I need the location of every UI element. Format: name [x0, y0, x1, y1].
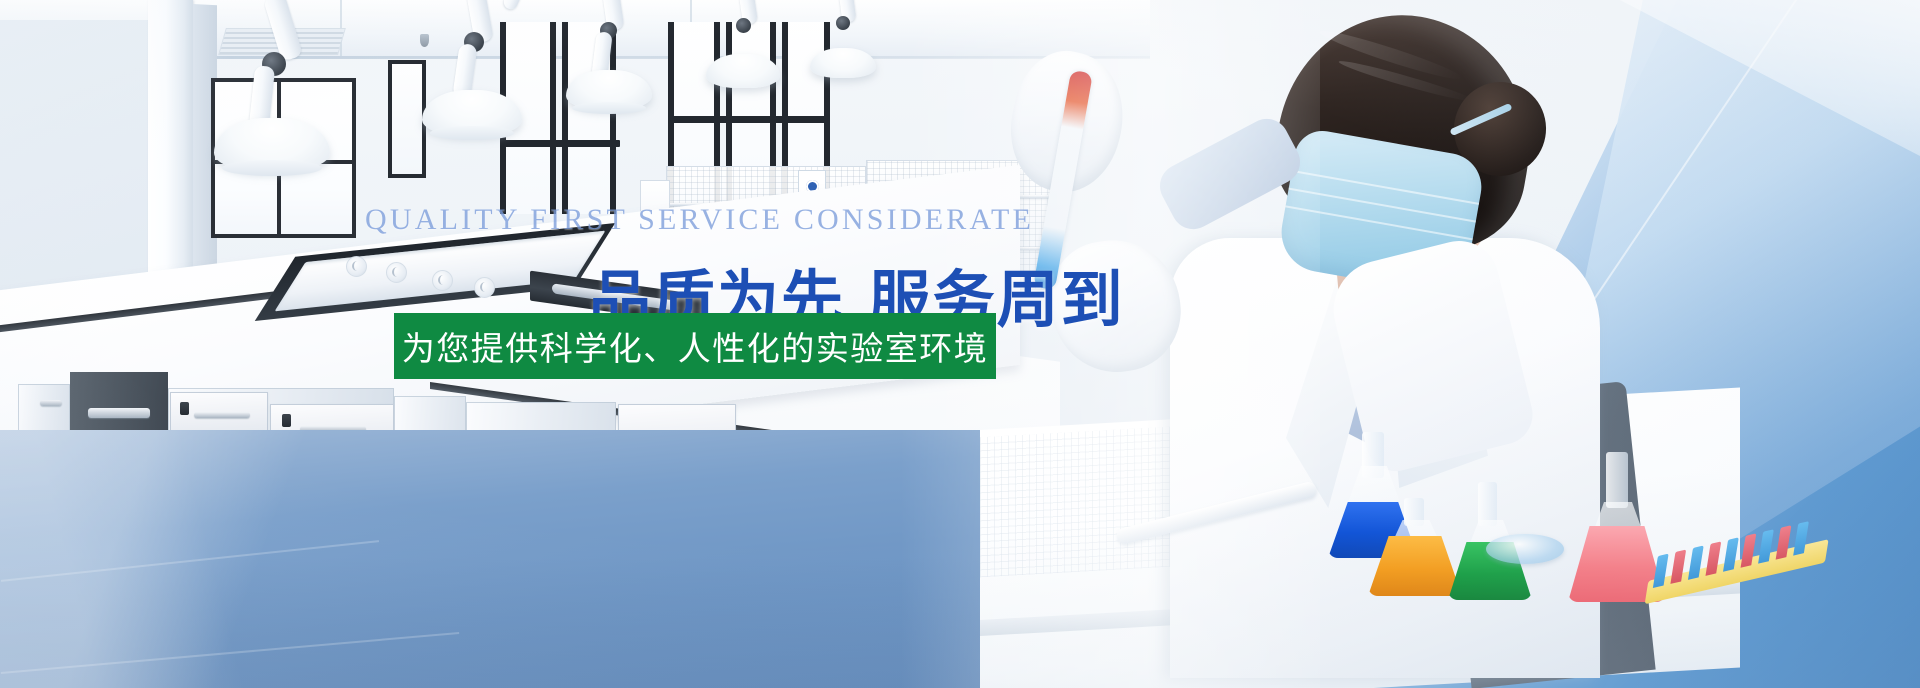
banner-copy: QUALITY FIRST SERVICE CONSIDERATE 品质为先 服…: [0, 0, 1920, 688]
banner-english-tagline: QUALITY FIRST SERVICE CONSIDERATE: [365, 203, 1025, 237]
banner-subtitle-text: 为您提供科学化、人性化的实验室环境: [402, 322, 989, 370]
hero-banner: QUALITY FIRST SERVICE CONSIDERATE 品质为先 服…: [0, 0, 1920, 688]
banner-subtitle-bar: 为您提供科学化、人性化的实验室环境: [394, 313, 996, 379]
